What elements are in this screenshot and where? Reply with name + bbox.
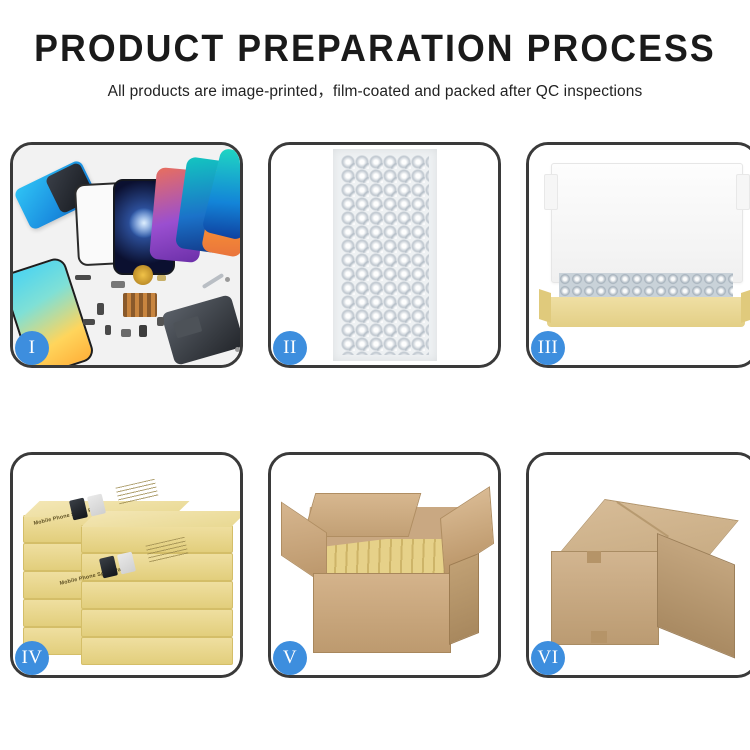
inner-box-base — [547, 297, 745, 327]
retail-box-lid-face — [81, 511, 240, 527]
gold-connector-part — [157, 275, 166, 281]
process-step-4: Mobile Phone Spare Parts Mobile Phone Sp… — [10, 452, 243, 678]
bracket-part — [97, 303, 104, 315]
lid-screen-image-white — [87, 494, 106, 517]
step-5-image — [271, 455, 498, 675]
retail-box — [81, 581, 233, 609]
process-step-6: VI — [526, 452, 750, 678]
logic-board-part — [123, 293, 157, 317]
product-preparation-infographic: PRODUCT PREPARATION PROCESS All products… — [0, 0, 750, 750]
flex-cable-part — [75, 275, 91, 280]
step-badge-4: IV — [15, 641, 49, 675]
header: PRODUCT PREPARATION PROCESS All products… — [0, 0, 750, 101]
coil-part — [133, 265, 153, 285]
page-subtitle: All products are image-printed，film-coat… — [0, 79, 750, 101]
bubble-wrap-sleeve — [333, 149, 437, 361]
screw-part-1 — [225, 277, 230, 282]
retail-box — [81, 609, 233, 637]
carton-tape-upper — [587, 551, 601, 563]
process-step-5: V — [268, 452, 501, 678]
step-3-image — [529, 145, 750, 365]
retail-box-stack: Mobile Phone Spare Parts Mobile Phone Sp… — [19, 477, 240, 669]
carton-front-wall — [313, 573, 451, 653]
step-1-image — [13, 145, 240, 365]
button-part — [105, 325, 111, 335]
vibrator-part — [157, 317, 164, 326]
carton-tape-lower — [591, 631, 607, 643]
tweezers-tool — [202, 273, 224, 289]
carton-side-wall — [449, 553, 479, 645]
spare-parts-group — [75, 263, 240, 365]
step-badge-3: III — [531, 331, 565, 365]
phone-back-housing — [161, 294, 240, 365]
step-2-image — [271, 145, 498, 365]
step-badge-5: V — [273, 641, 307, 675]
step-badge-6: VI — [531, 641, 565, 675]
step-badge-2: II — [273, 331, 307, 365]
sealed-carton-side — [657, 533, 735, 659]
step-4-image: Mobile Phone Spare Parts Mobile Phone Sp… — [13, 455, 240, 675]
step-6-image — [529, 455, 750, 675]
process-step-grid: I II III — [10, 142, 740, 678]
screw-part-2 — [235, 347, 240, 352]
speaker-part — [83, 319, 95, 325]
process-step-3: III — [526, 142, 750, 368]
shield-plate-part — [111, 281, 125, 288]
page-title: PRODUCT PREPARATION PROCESS — [23, 30, 728, 70]
step-badge-1: I — [15, 331, 49, 365]
camera-part — [121, 329, 131, 337]
inner-box-lid — [551, 163, 743, 283]
process-step-2: II — [268, 142, 501, 368]
sim-tray-part — [139, 325, 147, 337]
process-step-1: I — [10, 142, 243, 368]
retail-box — [81, 637, 233, 665]
